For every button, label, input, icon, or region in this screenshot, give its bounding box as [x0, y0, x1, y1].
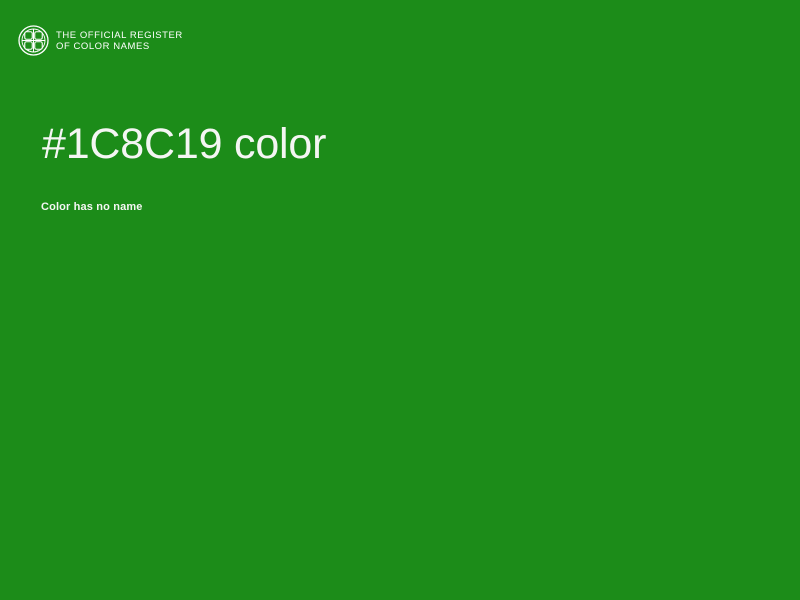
brand-lockup[interactable]: THE OFFICIAL REGISTER OF COLOR NAMES	[18, 25, 183, 56]
page-title: #1C8C19 color	[42, 118, 742, 170]
register-seal-icon	[18, 25, 49, 56]
color-page: THE OFFICIAL REGISTER OF COLOR NAMES #1C…	[0, 0, 800, 600]
color-info: #1C8C19 color Color has no name	[42, 118, 742, 214]
brand-line-1: THE OFFICIAL REGISTER	[56, 30, 183, 41]
brand-wordmark: THE OFFICIAL REGISTER OF COLOR NAMES	[56, 29, 183, 52]
brand-line-2: OF COLOR NAMES	[56, 41, 183, 52]
color-name-status: Color has no name	[41, 170, 742, 214]
